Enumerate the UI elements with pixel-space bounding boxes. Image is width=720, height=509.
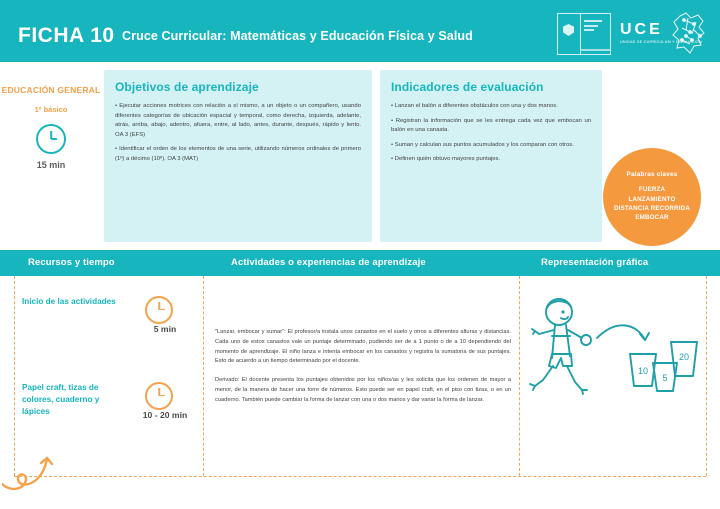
ministry-crest-panel: [558, 14, 581, 54]
table-header-bar: Recursos y tiempo Actividades o experien…: [0, 250, 720, 276]
indicadores-panel: Indicadores de evaluación • Lanzan el ba…: [380, 70, 602, 242]
representacion-grafica-illustration: 10 5 20: [525, 296, 705, 436]
clock-icon: [145, 382, 173, 410]
top-section: EDUCACIÓN GENERAL 1º básico 15 min Objet…: [0, 62, 720, 250]
activity-paragraph: Derivado: El docente presenta los puntaj…: [215, 376, 511, 405]
keyword: FUERZA: [639, 185, 665, 194]
palabras-claves-badge: Palabras claves FUERZA LANZAMIENTO DISTA…: [603, 148, 701, 246]
activity-paragraph: "Lanzar, embocar y sumar": El profesor/a…: [215, 328, 511, 367]
table-body: Inicio de las actividades 5 min Papel cr…: [0, 276, 720, 509]
activities-column: "Lanzar, embocar y sumar": El profesor/a…: [215, 328, 511, 415]
bucket-label: 5: [662, 373, 667, 383]
indicador-item: • Definen quién obtuvo mayores puntajes.: [391, 155, 591, 165]
ficha-number: FICHA 10: [18, 24, 115, 48]
curved-arrow-decoration-icon: [2, 436, 72, 494]
resource-label: Inicio de las actividades: [22, 296, 126, 308]
child-throwing-ball-drawing: 10 5 20: [525, 296, 705, 436]
grade-label: 1º básico: [0, 105, 102, 114]
indicadores-title: Indicadores de evaluación: [391, 80, 591, 94]
clock-icon: [145, 296, 173, 324]
sidebar-level-panel: EDUCACIÓN GENERAL 1º básico 15 min: [0, 62, 102, 250]
resource-label: Papel craft, tizas de colores, cuaderno …: [22, 382, 126, 418]
keyword: DISTANCIA RECORRIDA: [614, 204, 690, 213]
objetivo-item: • Identificar el orden de los elementos …: [115, 145, 361, 164]
indicador-item: • Lanzan el balón a diferentes obstáculo…: [391, 102, 591, 112]
objetivos-title: Objetivos de aprendizaje: [115, 80, 361, 94]
page-header: FICHA 10 Cruce Curricular: Matemáticas y…: [0, 0, 720, 62]
clock-icon: [36, 124, 66, 154]
table-divider: [706, 276, 707, 476]
keyword: EMBOCAR: [635, 213, 668, 222]
ministry-logo: [557, 13, 611, 55]
bucket-label: 20: [679, 352, 689, 362]
objetivos-panel: Objetivos de aprendizaje • Ejecutar acci…: [104, 70, 372, 242]
palabras-claves-title: Palabras claves: [627, 171, 678, 178]
bucket-label: 10: [638, 366, 648, 376]
column-header-representacion: Representación gráfica: [541, 257, 648, 268]
table-divider: [203, 276, 204, 476]
education-level-title: EDUCACIÓN GENERAL: [0, 84, 102, 96]
ministry-wordmark: [581, 14, 610, 54]
total-duration: 15 min: [0, 160, 102, 170]
column-header-actividades: Actividades o experiencias de aprendizaj…: [231, 257, 426, 268]
table-divider: [14, 476, 706, 477]
row-duration: 10 - 20 min: [139, 410, 191, 421]
coat-of-arms-icon: [563, 24, 574, 36]
objetivo-item: • Ejecutar acciones motrices con relació…: [115, 102, 361, 140]
indicador-item: • Registran la información que se les en…: [391, 117, 591, 136]
ficha-page: FICHA 10 Cruce Curricular: Matemáticas y…: [0, 0, 720, 509]
logo-group: UCE UNIDAD DE CURRÍCULUM Y EVALUACIÓN: [552, 8, 712, 56]
uce-doodle-icon: [670, 10, 710, 56]
header-subtitle: Cruce Curricular: Matemáticas y Educació…: [122, 29, 473, 43]
table-divider: [519, 276, 520, 476]
column-header-recursos: Recursos y tiempo: [28, 257, 115, 268]
keyword: LANZAMIENTO: [628, 195, 675, 204]
indicador-item: • Suman y calculan sus puntos acumulados…: [391, 141, 591, 151]
row-duration: 5 min: [139, 324, 191, 335]
